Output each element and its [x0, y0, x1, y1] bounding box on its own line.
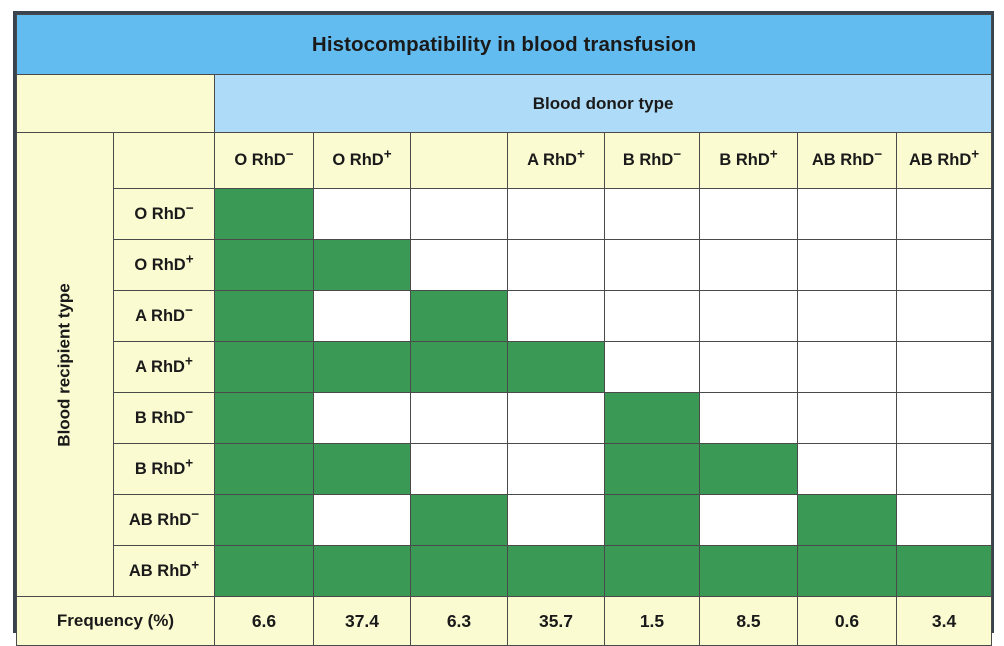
donor-header-row: Blood recipient type O RhD− O RhD+ A RhD…	[17, 133, 992, 189]
recipient-label-5: B RhD+	[114, 444, 215, 495]
recipient-axis-title: Blood recipient type	[55, 283, 75, 446]
recipient-axis-title-cell: Blood recipient type	[17, 133, 114, 597]
cell-2-2[interactable]	[411, 291, 508, 342]
frequency-row: Frequency (%) 6.6 37.4 6.3 35.7 1.5 8.5 …	[17, 597, 992, 646]
cell-3-4[interactable]	[605, 342, 700, 393]
cell-6-3[interactable]	[508, 495, 605, 546]
cell-2-5[interactable]	[700, 291, 798, 342]
cell-6-1[interactable]	[314, 495, 411, 546]
cell-0-0[interactable]	[215, 189, 314, 240]
cell-5-7[interactable]	[897, 444, 992, 495]
recipient-label-3: A RhD+	[114, 342, 215, 393]
donor-header-5: B RhD+	[700, 133, 798, 189]
cell-7-3[interactable]	[508, 546, 605, 597]
frequency-value-7: 3.4	[897, 597, 992, 646]
cell-3-0[interactable]	[215, 342, 314, 393]
frequency-value-5: 8.5	[700, 597, 798, 646]
frequency-value-3: 35.7	[508, 597, 605, 646]
matrix-row: A RhD−	[17, 291, 992, 342]
cell-0-6[interactable]	[798, 189, 897, 240]
matrix-row: AB RhD+	[17, 546, 992, 597]
frequency-value-2: 6.3	[411, 597, 508, 646]
cell-3-5[interactable]	[700, 342, 798, 393]
cell-5-4[interactable]	[605, 444, 700, 495]
cell-7-6[interactable]	[798, 546, 897, 597]
cell-0-3[interactable]	[508, 189, 605, 240]
donor-banner-row: Blood donor type	[17, 75, 992, 133]
cell-5-1[interactable]	[314, 444, 411, 495]
cell-6-5[interactable]	[700, 495, 798, 546]
histocompatibility-table-frame: Histocompatibility in blood transfusion …	[13, 11, 994, 633]
cell-0-1[interactable]	[314, 189, 411, 240]
cell-1-5[interactable]	[700, 240, 798, 291]
donor-header-7: AB RhD+	[897, 133, 992, 189]
recipient-label-1: O RhD+	[114, 240, 215, 291]
cell-7-0[interactable]	[215, 546, 314, 597]
cell-1-7[interactable]	[897, 240, 992, 291]
cell-3-3[interactable]	[508, 342, 605, 393]
donor-axis-title: Blood donor type	[215, 75, 992, 133]
donor-header-0: O RhD−	[215, 133, 314, 189]
cell-7-1[interactable]	[314, 546, 411, 597]
cell-1-0[interactable]	[215, 240, 314, 291]
frequency-value-1: 37.4	[314, 597, 411, 646]
corner-blank-top	[17, 75, 215, 133]
cell-4-5[interactable]	[700, 393, 798, 444]
cell-7-4[interactable]	[605, 546, 700, 597]
cell-1-4[interactable]	[605, 240, 700, 291]
page-title: Histocompatibility in blood transfusion	[17, 15, 992, 75]
cell-6-0[interactable]	[215, 495, 314, 546]
cell-0-7[interactable]	[897, 189, 992, 240]
cell-5-6[interactable]	[798, 444, 897, 495]
frequency-row-label: Frequency (%)	[17, 597, 215, 646]
cell-0-5[interactable]	[700, 189, 798, 240]
cell-5-2[interactable]	[411, 444, 508, 495]
cell-7-5[interactable]	[700, 546, 798, 597]
cell-3-6[interactable]	[798, 342, 897, 393]
cell-5-0[interactable]	[215, 444, 314, 495]
matrix-row: AB RhD−	[17, 495, 992, 546]
frequency-value-6: 0.6	[798, 597, 897, 646]
title-row: Histocompatibility in blood transfusion	[17, 15, 992, 75]
cell-6-4[interactable]	[605, 495, 700, 546]
cell-7-2[interactable]	[411, 546, 508, 597]
cell-4-7[interactable]	[897, 393, 992, 444]
matrix-row: B RhD+	[17, 444, 992, 495]
cell-4-6[interactable]	[798, 393, 897, 444]
cell-5-3[interactable]	[508, 444, 605, 495]
cell-1-3[interactable]	[508, 240, 605, 291]
frequency-value-0: 6.6	[215, 597, 314, 646]
cell-6-6[interactable]	[798, 495, 897, 546]
matrix-row: A RhD+	[17, 342, 992, 393]
cell-0-4[interactable]	[605, 189, 700, 240]
cell-2-1[interactable]	[314, 291, 411, 342]
recipient-label-0: O RhD−	[114, 189, 215, 240]
cell-3-7[interactable]	[897, 342, 992, 393]
cell-1-2[interactable]	[411, 240, 508, 291]
cell-2-0[interactable]	[215, 291, 314, 342]
cell-0-2[interactable]	[411, 189, 508, 240]
donor-header-2	[411, 133, 508, 189]
cell-4-1[interactable]	[314, 393, 411, 444]
recipient-label-2: A RhD−	[114, 291, 215, 342]
donor-header-4: B RhD−	[605, 133, 700, 189]
cell-6-7[interactable]	[897, 495, 992, 546]
donor-header-1: O RhD+	[314, 133, 411, 189]
cell-3-1[interactable]	[314, 342, 411, 393]
cell-1-6[interactable]	[798, 240, 897, 291]
cell-5-5[interactable]	[700, 444, 798, 495]
recipient-label-7: AB RhD+	[114, 546, 215, 597]
matrix-row: O RhD−	[17, 189, 992, 240]
cell-6-2[interactable]	[411, 495, 508, 546]
cell-2-7[interactable]	[897, 291, 992, 342]
cell-2-4[interactable]	[605, 291, 700, 342]
matrix-row: B RhD−	[17, 393, 992, 444]
matrix-row: O RhD+	[17, 240, 992, 291]
histocompatibility-table: Histocompatibility in blood transfusion …	[16, 14, 992, 646]
cell-7-7[interactable]	[897, 546, 992, 597]
cell-4-2[interactable]	[411, 393, 508, 444]
donor-header-3: A RhD+	[508, 133, 605, 189]
cell-3-2[interactable]	[411, 342, 508, 393]
corner-blank-left	[114, 133, 215, 189]
recipient-label-6: AB RhD−	[114, 495, 215, 546]
frequency-value-4: 1.5	[605, 597, 700, 646]
cell-2-6[interactable]	[798, 291, 897, 342]
cell-4-4[interactable]	[605, 393, 700, 444]
donor-header-6: AB RhD−	[798, 133, 897, 189]
cell-1-1[interactable]	[314, 240, 411, 291]
cell-2-3[interactable]	[508, 291, 605, 342]
cell-4-3[interactable]	[508, 393, 605, 444]
recipient-label-4: B RhD−	[114, 393, 215, 444]
cell-4-0[interactable]	[215, 393, 314, 444]
